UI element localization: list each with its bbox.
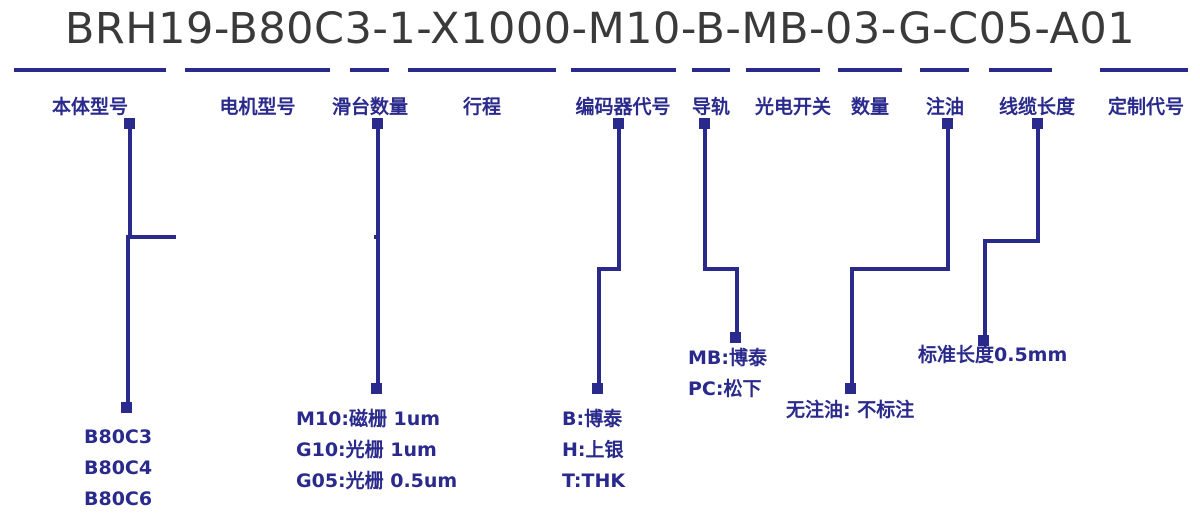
connector-cable-h1 — [983, 239, 1040, 243]
connector-end-photo-switch — [730, 332, 741, 343]
segment-rule-encoder-code — [571, 68, 676, 72]
value-line: 标准长度0.5mm — [918, 340, 1067, 371]
segment-label-custom-code: 定制代号 — [1096, 92, 1196, 119]
value-block-cable: 标准长度0.5mm — [918, 340, 1067, 371]
connector-encoder-v2 — [376, 235, 380, 388]
connector-cable-v1 — [1036, 122, 1040, 242]
segment-rule-stroke — [408, 68, 556, 72]
connector-oil-h1 — [850, 267, 950, 271]
segment-rule-oil — [920, 68, 969, 72]
connector-encoder-v1 — [376, 122, 380, 237]
part-number-title: BRH19-B80C3-1-X1000-M10-B-MB-03-G-C05-A0… — [0, 4, 1200, 54]
value-line: G10:光栅 1um — [296, 435, 457, 466]
connector-body-model-v1 — [128, 122, 132, 237]
value-line: B:博泰 — [562, 404, 625, 435]
segment-rule-quantity — [838, 68, 902, 72]
segment-rule-body-model — [14, 68, 166, 72]
segment-label-rail: 导轨 — [681, 92, 741, 119]
connector-body-model-h1 — [126, 235, 176, 239]
segment-label-quantity: 数量 — [840, 92, 900, 119]
value-line: MB:博泰 — [688, 343, 767, 374]
value-line: B80C3 — [84, 422, 152, 453]
value-block-oil: 无注油: 不标注 — [786, 395, 914, 426]
segment-label-oil: 注油 — [915, 92, 975, 119]
connector-photo-switch-v2 — [735, 267, 739, 337]
segment-rule-rail — [692, 68, 730, 72]
connector-end-rail — [592, 383, 603, 394]
connector-end-body-model — [121, 402, 132, 413]
value-line: H:上银 — [562, 435, 625, 466]
value-line: B80C4 — [84, 453, 152, 484]
connector-rail-v2 — [597, 267, 601, 388]
connector-cable-v2 — [983, 239, 987, 340]
value-line: T:THK — [562, 466, 625, 497]
segment-rule-custom-code — [1100, 68, 1188, 72]
connector-end-oil — [845, 383, 856, 394]
value-line: 无注油: 不标注 — [786, 395, 914, 426]
segment-label-cable-length: 线缆长度 — [987, 92, 1087, 119]
segment-rule-photo-switch — [746, 68, 820, 72]
segment-label-encoder-code: 编码器代号 — [558, 92, 688, 119]
segment-rule-slide-count — [350, 68, 389, 72]
model-number-breakdown-diagram: BRH19-B80C3-1-X1000-M10-B-MB-03-G-C05-A0… — [0, 0, 1200, 519]
segment-label-body-model: 本体型号 — [14, 92, 166, 119]
segment-label-photo-switch: 光电开关 — [743, 92, 843, 119]
connector-photo-switch-v1 — [703, 122, 707, 270]
segment-label-stroke: 行程 — [432, 92, 532, 119]
value-line: PC:松下 — [688, 374, 767, 405]
value-block-photo-switch: MB:博泰 PC:松下 — [688, 343, 767, 405]
value-line: B80C6 — [84, 484, 152, 515]
segment-label-slide-count: 滑台数量 — [320, 92, 420, 119]
segment-rule-cable-length — [989, 68, 1052, 72]
connector-oil-v2 — [850, 267, 854, 388]
connector-photo-switch-h2 — [703, 267, 739, 271]
value-line: G05:光栅 0.5um — [296, 466, 457, 497]
segment-rule-motor-model — [185, 68, 330, 72]
value-block-encoder: M10:磁栅 1um G10:光栅 1um G05:光栅 0.5um — [296, 404, 457, 497]
connector-rail-v1 — [617, 122, 621, 270]
segment-label-motor-model: 电机型号 — [185, 92, 330, 119]
connector-oil-v1 — [946, 122, 950, 270]
connector-end-encoder — [371, 383, 382, 394]
value-line: M10:磁栅 1um — [296, 404, 457, 435]
value-block-body-model: B80C3 B80C4 B80C6 — [84, 422, 152, 515]
value-block-rail: B:博泰 H:上银 T:THK — [562, 404, 625, 497]
connector-body-model-v2 — [126, 235, 130, 408]
